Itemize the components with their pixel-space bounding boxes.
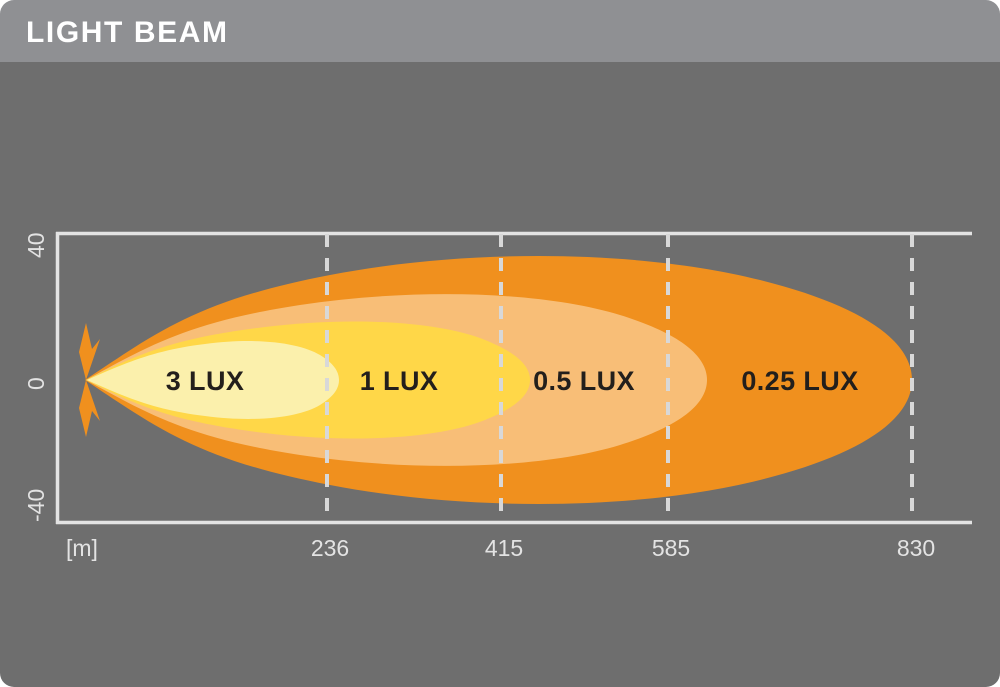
y-tick-label-0: 0: [23, 377, 49, 390]
lux-label-3: 3 LUX: [166, 366, 245, 396]
x-tick-label-585: 585: [652, 535, 690, 561]
x-tick-label-236: 236: [311, 535, 349, 561]
x-tick-label-415: 415: [485, 535, 523, 561]
y-tick-label-40: 40: [23, 232, 49, 258]
lux-label-0-25: 0.25 LUX: [741, 366, 858, 396]
y-tick-label-neg40: -40: [23, 489, 49, 522]
light-beam-card: LIGHT BEAM: [0, 0, 1000, 687]
x-axis-unit-label: [m]: [66, 535, 98, 561]
beam-diagram-svg: 40 0 -40 [m] 236 415 585 830 3 LUX 1 LUX…: [0, 0, 1000, 687]
lux-label-0-5: 0.5 LUX: [533, 366, 635, 396]
panel: LIGHT BEAM: [0, 0, 1000, 687]
x-tick-label-830: 830: [897, 535, 935, 561]
lux-label-1: 1 LUX: [360, 366, 439, 396]
